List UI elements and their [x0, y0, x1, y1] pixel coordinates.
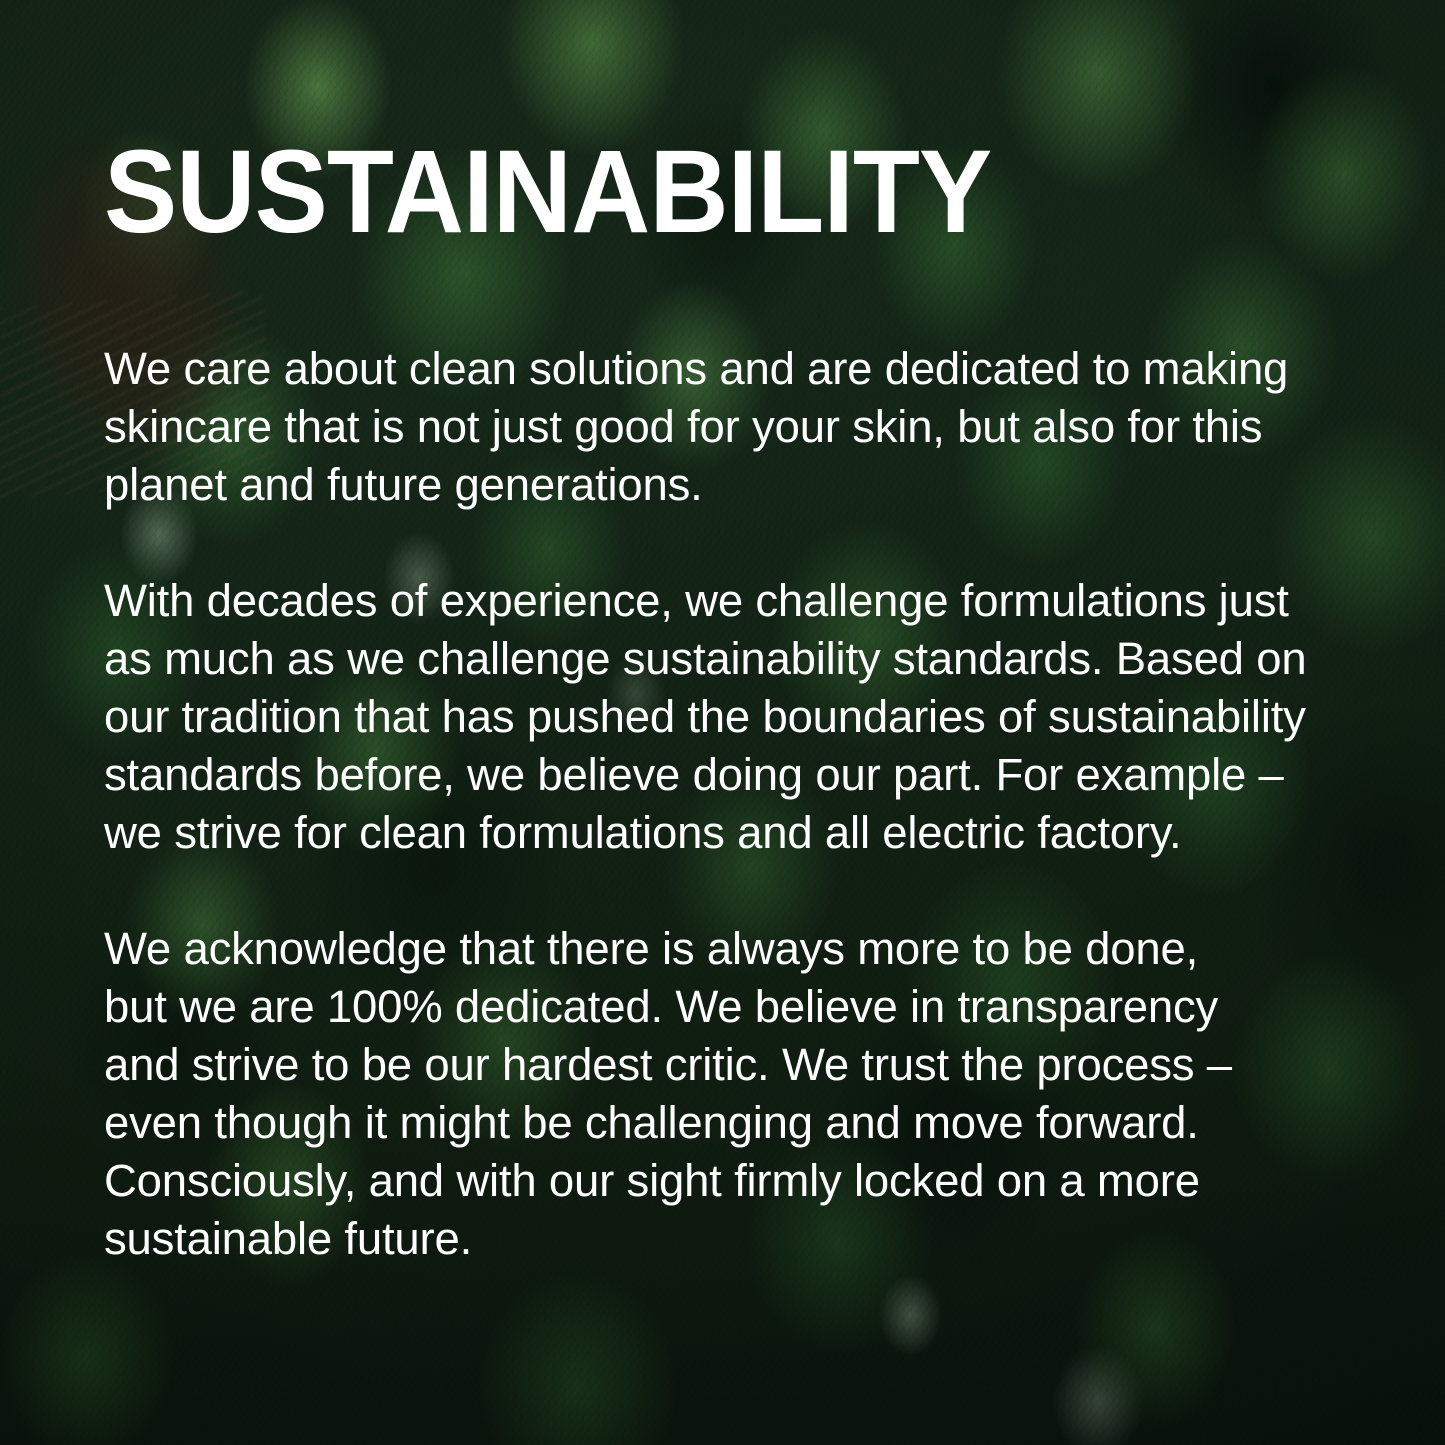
- paragraph-clean-solutions: We care about clean solutions and are de…: [104, 340, 1390, 514]
- paragraph-acknowledge: We acknowledge that there is always more…: [104, 920, 1390, 1268]
- content-column: SUSTAINABILITY We care about clean solut…: [104, 0, 1394, 1445]
- paragraph-decades-of-experience: With decades of experience, we challenge…: [104, 572, 1390, 862]
- page-title: SUSTAINABILITY: [104, 133, 991, 251]
- sustainability-page: SUSTAINABILITY We care about clean solut…: [0, 0, 1445, 1445]
- body-copy: We care about clean solutions and are de…: [104, 340, 1390, 1268]
